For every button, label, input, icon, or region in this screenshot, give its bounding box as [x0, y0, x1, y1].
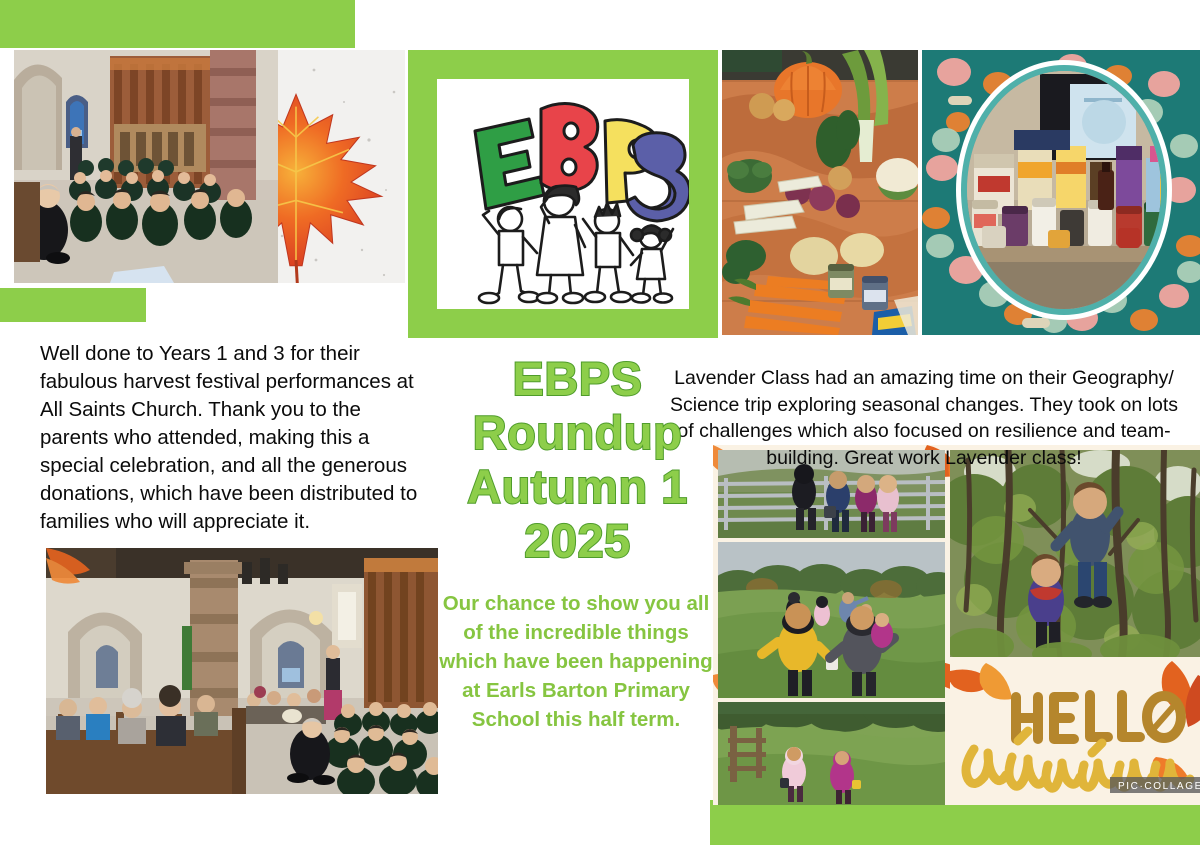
food-donations-collage: PIC·COLLAGE — [922, 50, 1200, 335]
page-title: EBPS Roundup Autumn 1 2025 — [435, 352, 720, 568]
church-assembly-photo — [14, 50, 278, 283]
ebps-school-logo — [437, 79, 689, 309]
harvest-produce-photo — [722, 50, 918, 335]
title-line-1: EBPS — [435, 352, 720, 406]
title-line-3: Autumn 1 — [435, 460, 720, 514]
trip-field-photo — [718, 702, 945, 805]
harvest-festival-paragraph: Well done to Years 1 and 3 for their fab… — [40, 340, 425, 537]
trip-tree-climbing-photo — [950, 450, 1200, 657]
church-congregation-photo — [46, 548, 438, 794]
title-line-4: 2025 — [435, 514, 720, 568]
green-accent-block-bottom-right — [710, 800, 1200, 845]
green-accent-block-mid-left — [0, 288, 146, 322]
green-accent-block-top-left — [0, 0, 355, 48]
page-subtitle: Our chance to show you all of the incred… — [437, 589, 715, 735]
lavender-class-paragraph: Lavender Class had an amazing time on th… — [660, 365, 1188, 471]
newsletter-poster: PIC·COLLAGE — [0, 0, 1200, 845]
svg-text:PIC·COLLAGE: PIC·COLLAGE — [1118, 781, 1200, 792]
hello-autumn-card: PIC·COLLAGE — [950, 661, 1200, 805]
title-line-2: Roundup — [435, 406, 720, 460]
trip-running-photo — [718, 542, 945, 698]
